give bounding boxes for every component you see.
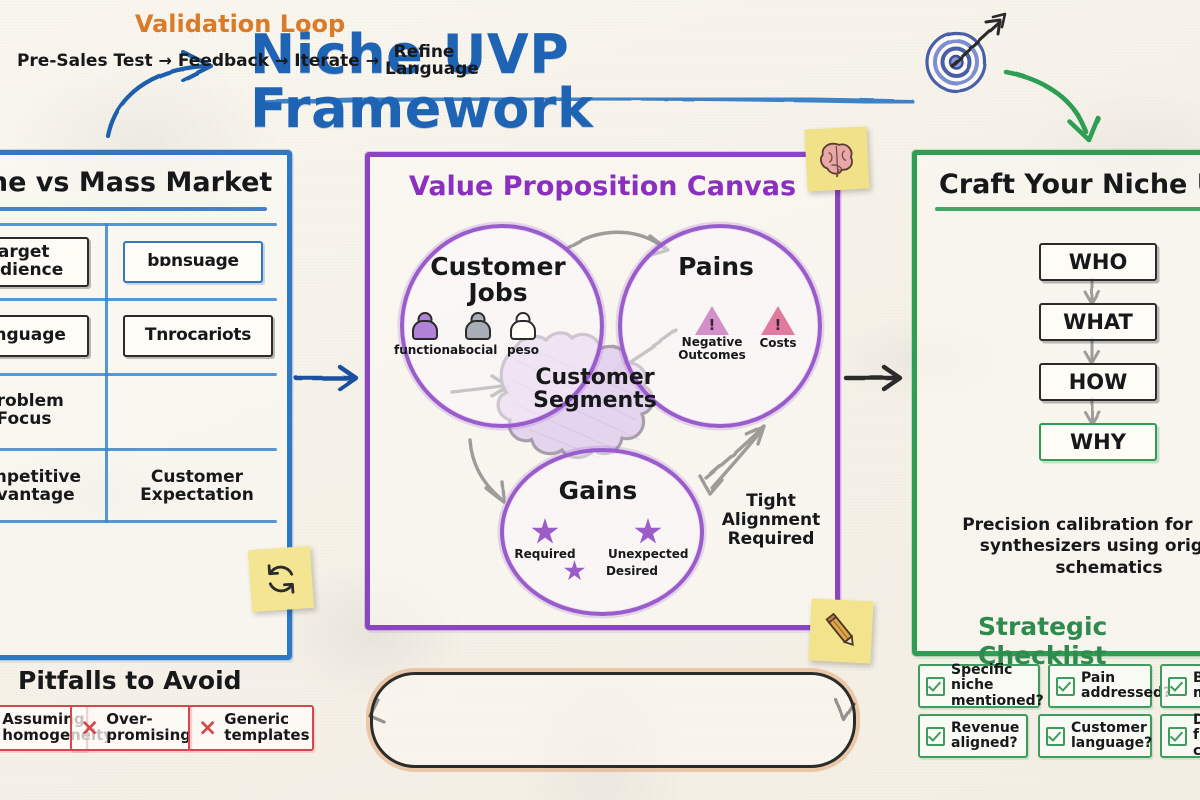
pencil-icon	[820, 610, 862, 652]
checkbox-checked-icon[interactable]	[926, 727, 945, 746]
checklist-item-1[interactable]: Pain addressed?	[1048, 664, 1152, 708]
checklist-item-0[interactable]: Specific niche mentioned?	[918, 664, 1040, 708]
checklist-title: Strategic Checklist	[978, 612, 1200, 670]
checklist-label-1: Pain addressed?	[1081, 671, 1171, 701]
checklist-label-3: Revenue aligned?	[951, 721, 1020, 751]
sticky-note-brain[interactable]	[804, 126, 869, 191]
checkbox-checked-icon[interactable]	[1046, 727, 1065, 746]
refresh-cycle-icon	[262, 560, 300, 598]
checkbox-checked-icon[interactable]	[1056, 677, 1075, 696]
checkbox-checked-icon[interactable]	[1168, 727, 1187, 746]
checklist-item-2[interactable]: Benefit mentioned?	[1160, 664, 1200, 708]
sticky-note-refresh[interactable]	[248, 546, 314, 612]
brain-icon	[816, 139, 858, 179]
checklist-label-4: Customer language?	[1071, 721, 1152, 751]
checkbox-checked-icon[interactable]	[1168, 677, 1187, 696]
checklist-label-0: Specific niche mentioned?	[951, 663, 1044, 708]
sticky-note-pencil[interactable]	[808, 598, 873, 663]
checklist-item-5[interactable]: Distinct from competitors?	[1160, 714, 1200, 758]
checkbox-checked-icon[interactable]	[926, 677, 945, 696]
checklist-label-2: Benefit mentioned?	[1193, 671, 1200, 701]
strategic-checklist-section: Strategic Checklist Specific niche menti…	[0, 0, 1200, 800]
checklist-item-3[interactable]: Revenue aligned?	[918, 714, 1028, 758]
checklist-item-4[interactable]: Customer language?	[1038, 714, 1152, 758]
checklist-label-5: Distinct from competitors?	[1193, 713, 1200, 758]
